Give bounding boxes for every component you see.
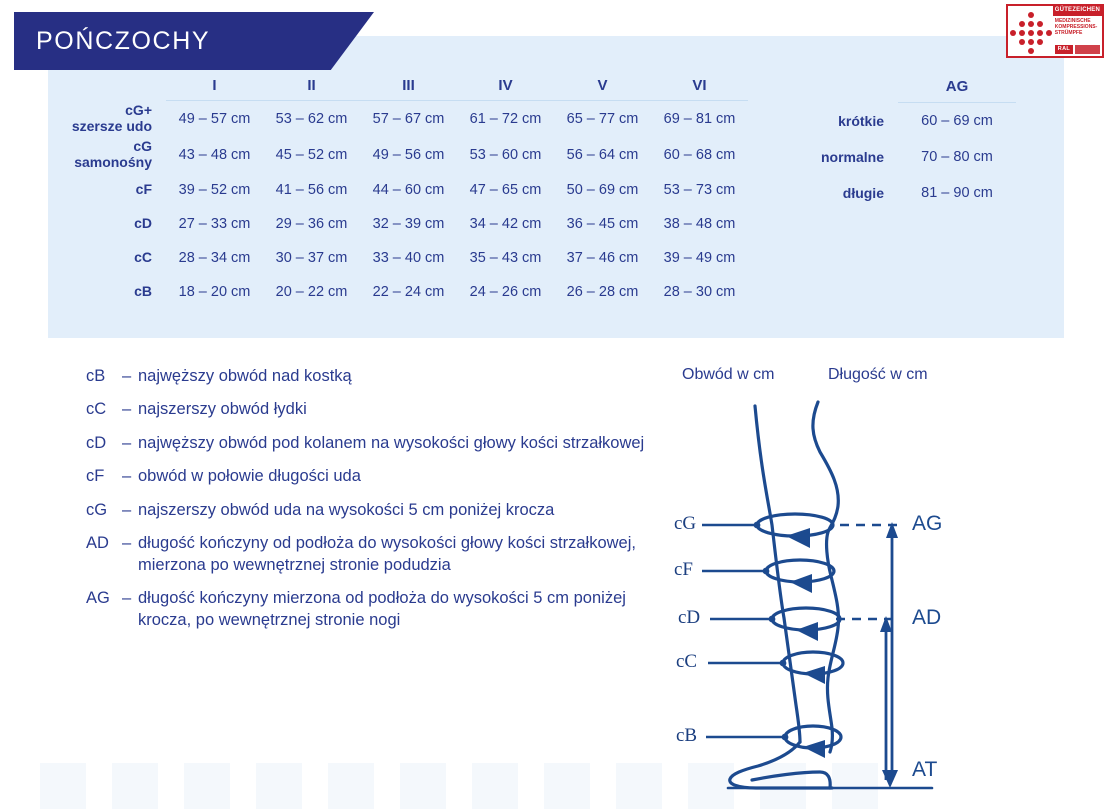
diagram-label-ag: AG: [912, 512, 942, 536]
measurement-row-label: cF: [48, 173, 166, 207]
measurement-cell: 61 – 72 cm: [457, 101, 554, 138]
ag-row-value: 70 – 80 cm: [898, 139, 1016, 175]
ral-heading: GÜTEZEICHEN: [1053, 6, 1102, 16]
measurement-cell: 30 – 37 cm: [263, 241, 360, 275]
ral-line-3: STRÜMPFE: [1055, 30, 1100, 36]
legend-code: AD: [86, 533, 122, 576]
legend-item: cB – najwęższy obwód nad kostką: [86, 366, 646, 387]
ral-footer: RAL: [1055, 45, 1100, 54]
ral-quality-mark-logo: GÜTEZEICHEN MEDIZINISCHE KOMPRESSIONS- S…: [1006, 4, 1104, 58]
watermark-band: [400, 763, 446, 809]
diagram-label-at: AT: [912, 758, 937, 782]
measurement-cell: 28 – 30 cm: [651, 275, 748, 309]
measurement-cell: 33 – 40 cm: [360, 241, 457, 275]
size-column-header: V: [554, 70, 651, 101]
page-title-banner: POŃCZOCHY: [14, 12, 374, 70]
row-label-line1: cG: [133, 138, 152, 154]
ral-footer-bar: [1075, 45, 1100, 54]
legend-item: AD – długość kończyny od podłoża do wyso…: [86, 533, 646, 576]
measurement-cell: 43 – 48 cm: [166, 137, 263, 173]
measurement-cell: 32 – 39 cm: [360, 207, 457, 241]
legend-description: długość kończyny mierzona od podłoża do …: [138, 588, 646, 631]
measurement-cell: 20 – 22 cm: [263, 275, 360, 309]
legend-dash: –: [122, 533, 138, 576]
leader-dot-cf: [763, 568, 770, 575]
measurement-cell: 18 – 20 cm: [166, 275, 263, 309]
legend-code: cC: [86, 399, 122, 420]
measurement-cell: 47 – 65 cm: [457, 173, 554, 207]
diagram-label-cd: cD: [678, 607, 700, 629]
measurement-row-label: cG samonośny: [48, 137, 166, 173]
leader-dot-cc: [780, 660, 787, 667]
legend-dash: –: [122, 366, 138, 387]
diagram-label-cc: cC: [676, 651, 697, 673]
legend-item: cG – najszerszy obwód uda na wysokości 5…: [86, 500, 646, 521]
table-row: normalne 70 – 80 cm: [812, 139, 1016, 175]
legend-code: cG: [86, 500, 122, 521]
measurement-cell: 44 – 60 cm: [360, 173, 457, 207]
ag-column-header: AG: [898, 70, 1016, 103]
measurement-cell: 39 – 49 cm: [651, 241, 748, 275]
foot-inner-contour: [752, 772, 830, 788]
legend-item: AG – długość kończyny mierzona od podłoż…: [86, 588, 646, 631]
leader-dot-cd: [769, 616, 776, 623]
legend-description: najwęższy obwód pod kolanem na wysokości…: [138, 433, 646, 454]
measurement-cell: 53 – 60 cm: [457, 137, 554, 173]
band-ellipse-cg: [757, 514, 833, 536]
ral-mark-label: RAL: [1055, 45, 1073, 54]
measurement-cell: 39 – 52 cm: [166, 173, 263, 207]
legend-dash: –: [122, 433, 138, 454]
legend-dash: –: [122, 500, 138, 521]
size-column-header: III: [360, 70, 457, 101]
measurement-cell: 49 – 56 cm: [360, 137, 457, 173]
leg-back-contour: [755, 406, 800, 742]
measurement-cell: 36 – 45 cm: [554, 207, 651, 241]
measurement-cell: 45 – 52 cm: [263, 137, 360, 173]
measurement-cell: 50 – 69 cm: [554, 173, 651, 207]
measurement-legend: cB – najwęższy obwód nad kostką cC – naj…: [86, 366, 646, 643]
row-label-line1: cG+: [125, 102, 152, 118]
measurement-cell: 28 – 34 cm: [166, 241, 263, 275]
watermark-band: [544, 763, 590, 809]
ag-row-value: 60 – 69 cm: [898, 103, 1016, 140]
diagram-label-cg: cG: [674, 513, 696, 535]
ral-logo-text: GÜTEZEICHEN MEDIZINISCHE KOMPRESSIONS- S…: [1053, 6, 1102, 56]
measurement-cell: 56 – 64 cm: [554, 137, 651, 173]
legend-dash: –: [122, 466, 138, 487]
legend-item: cD – najwęższy obwód pod kolanem na wyso…: [86, 433, 646, 454]
legend-description: obwód w połowie długości uda: [138, 466, 646, 487]
legend-description: najszerszy obwód łydki: [138, 399, 646, 420]
ag-table-corner-cell: [812, 70, 898, 103]
measurement-cell: 27 – 33 cm: [166, 207, 263, 241]
measurement-cell: 60 – 68 cm: [651, 137, 748, 173]
diagram-label-ad: AD: [912, 606, 941, 630]
ag-length-table: AG krótkie 60 – 69 cm normalne 70 – 80 c…: [812, 70, 1016, 211]
size-column-header: II: [263, 70, 360, 101]
watermark-band: [184, 763, 230, 809]
arrowhead-cd: [796, 622, 818, 641]
arrowhead-cf: [790, 574, 812, 593]
measurement-cell: 34 – 42 cm: [457, 207, 554, 241]
watermark-band: [40, 763, 86, 809]
measurement-cell: 57 – 67 cm: [360, 101, 457, 138]
ral-description: MEDIZINISCHE KOMPRESSIONS- STRÜMPFE: [1053, 16, 1102, 46]
table-row: cG samonośny 43 – 48 cm 45 – 52 cm 49 – …: [48, 137, 748, 173]
legend-description: długość kończyny od podłoża do wysokości…: [138, 533, 646, 576]
measurement-row-label: cD: [48, 207, 166, 241]
measurement-row-label: cG+ szersze udo: [48, 101, 166, 138]
size-column-header: VI: [651, 70, 748, 101]
measurement-cell: 53 – 62 cm: [263, 101, 360, 138]
watermark-band: [256, 763, 302, 809]
measurement-cell: 37 – 46 cm: [554, 241, 651, 275]
legend-code: cF: [86, 466, 122, 487]
leader-dot-cb: [782, 734, 789, 741]
legend-dash: –: [122, 588, 138, 631]
measurement-cell: 29 – 36 cm: [263, 207, 360, 241]
legend-description: najwęższy obwód nad kostką: [138, 366, 646, 387]
watermark-band: [112, 763, 158, 809]
size-table-corner-cell: [48, 70, 166, 101]
table-row: cD 27 – 33 cm 29 – 36 cm 32 – 39 cm 34 –…: [48, 207, 748, 241]
table-row: krótkie 60 – 69 cm: [812, 103, 1016, 140]
size-column-header: IV: [457, 70, 554, 101]
legend-description: najszerszy obwód uda na wysokości 5 cm p…: [138, 500, 646, 521]
arrowhead-at-bottom: [882, 770, 898, 788]
ag-row-label: długie: [812, 175, 898, 211]
length-arrowheads: [880, 522, 898, 788]
measurement-row-label: cC: [48, 241, 166, 275]
measurement-row-label: cB: [48, 275, 166, 309]
ag-row-value: 81 – 90 cm: [898, 175, 1016, 211]
leader-dot-cg: [754, 522, 761, 529]
measurement-cell: 35 – 43 cm: [457, 241, 554, 275]
legend-item: cF – obwód w połowie długości uda: [86, 466, 646, 487]
diagram-label-cb: cB: [676, 725, 697, 747]
table-row: cC 28 – 34 cm 30 – 37 cm 33 – 40 cm 35 –…: [48, 241, 748, 275]
legend-dash: –: [122, 399, 138, 420]
page-title: POŃCZOCHY: [14, 27, 210, 56]
size-column-header: I: [166, 70, 263, 101]
ral-dot-pattern-icon: [1008, 6, 1053, 56]
diagram-circumference-heading: Obwód w cm: [682, 366, 774, 384]
measurement-cell: 26 – 28 cm: [554, 275, 651, 309]
measurement-cell: 38 – 48 cm: [651, 207, 748, 241]
watermark-band: [616, 763, 662, 809]
legend-item: cC – najszerszy obwód łydki: [86, 399, 646, 420]
measurement-cell: 69 – 81 cm: [651, 101, 748, 138]
ag-table-header-row: AG: [812, 70, 1016, 103]
legend-code: cD: [86, 433, 122, 454]
measurement-cell: 53 – 73 cm: [651, 173, 748, 207]
table-row: cG+ szersze udo 49 – 57 cm 53 – 62 cm 57…: [48, 101, 748, 138]
diagram-length-heading: Długość w cm: [828, 366, 928, 384]
legend-code: cB: [86, 366, 122, 387]
watermark-band: [472, 763, 518, 809]
measurement-cell: 41 – 56 cm: [263, 173, 360, 207]
measurement-cell: 24 – 26 cm: [457, 275, 554, 309]
arrowhead-cg: [786, 528, 810, 548]
size-table-header-row: I II III IV V VI: [48, 70, 748, 101]
leg-diagram-svg: [660, 360, 1112, 800]
table-row: cF 39 – 52 cm 41 – 56 cm 44 – 60 cm 47 –…: [48, 173, 748, 207]
measurement-cell: 65 – 77 cm: [554, 101, 651, 138]
measurement-cell: 22 – 24 cm: [360, 275, 457, 309]
size-table: I II III IV V VI cG+ szersze udo 49 – 57…: [48, 70, 748, 309]
dashed-reference-lines: [836, 525, 900, 619]
table-row: długie 81 – 90 cm: [812, 175, 1016, 211]
legend-code: AG: [86, 588, 122, 631]
watermark-band: [328, 763, 374, 809]
measurement-cell: 49 – 57 cm: [166, 101, 263, 138]
leg-measurement-diagram: Obwód w cm Długość w cm: [660, 360, 1112, 800]
table-row: cB 18 – 20 cm 20 – 22 cm 22 – 24 cm 24 –…: [48, 275, 748, 309]
ag-row-label: krótkie: [812, 103, 898, 140]
row-label-line2: samonośny: [74, 154, 152, 170]
diagram-label-cf: cF: [674, 559, 693, 581]
length-measure-arrows: [886, 532, 892, 780]
ag-row-label: normalne: [812, 139, 898, 175]
row-label-line2: szersze udo: [72, 118, 152, 134]
